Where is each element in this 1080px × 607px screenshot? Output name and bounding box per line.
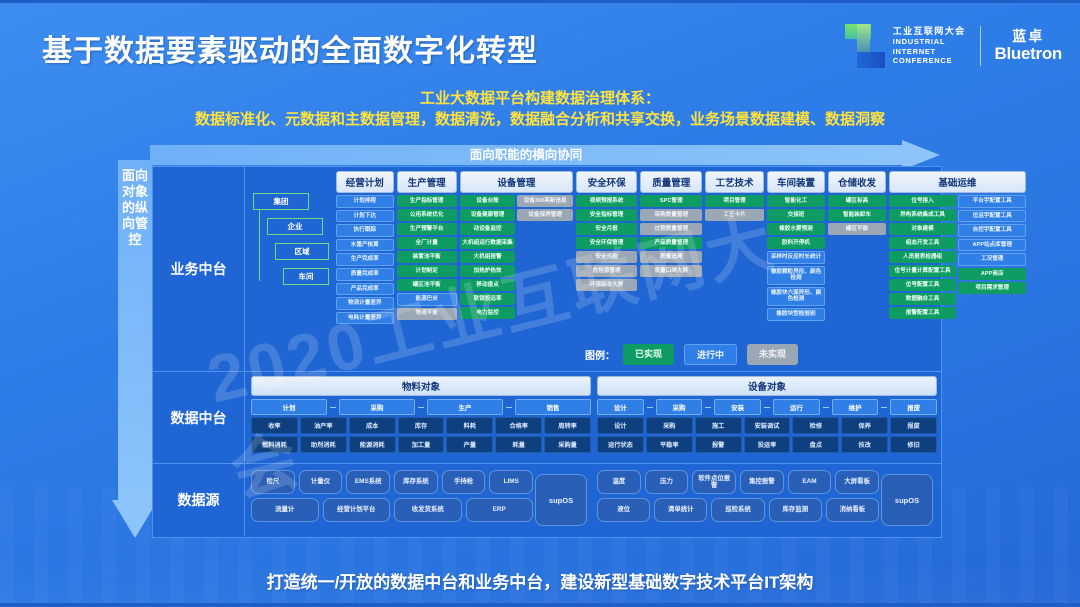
data-source-item[interactable]: 库存监测 bbox=[769, 498, 822, 522]
metric-cell[interactable]: 设计 bbox=[597, 417, 644, 434]
band-label-data: 数据中台 bbox=[153, 372, 245, 463]
capability-cell[interactable]: 工艺卡片 bbox=[705, 209, 763, 221]
flow-step[interactable]: 维护 bbox=[832, 399, 879, 415]
data-source-item[interactable]: 流量计 bbox=[251, 498, 319, 522]
bluetron-logo: 蓝卓 Bluetron bbox=[995, 29, 1062, 63]
legend-item-3: 未实现 bbox=[747, 344, 798, 365]
capability-cell[interactable]: 设备保养管理 bbox=[517, 209, 573, 221]
org-level-4[interactable]: 车间 bbox=[283, 268, 329, 285]
data-source-item[interactable]: 大屏看板 bbox=[835, 470, 879, 494]
column-header[interactable]: 工艺技术 bbox=[705, 171, 763, 193]
capability-cell[interactable]: APP站点库管理 bbox=[958, 239, 1026, 252]
iic-logo: 工业互联网大会 INDUSTRIAL INTERNET CONFERENCE bbox=[845, 24, 966, 68]
header: 基于数据要素驱动的全面数字化转型 工业互联网大会 INDUSTRIAL INTE… bbox=[0, 0, 1080, 88]
org-hierarchy: 集团企业区域车间 bbox=[253, 193, 329, 293]
band-body-data: 物料对象计划采购生产销售收率油产率成本库存料耗合格率周转率燃料消耗助剂消耗能源消… bbox=[245, 372, 941, 463]
column-subgroup-1: 设备360亮新信息设备保养管理 bbox=[517, 195, 573, 367]
business-column-8: 基础运维位号接入异构系统集成工具对象建模组态开发工具人员报表检器组位号计量计算配… bbox=[889, 171, 1026, 367]
metric-cell[interactable]: 安装调试 bbox=[744, 417, 791, 434]
column-subgroup-0: 项目管理工艺卡片 bbox=[705, 195, 763, 367]
column-header[interactable]: 车间装置 bbox=[767, 171, 825, 193]
metric-cell[interactable]: 周转率 bbox=[544, 417, 591, 434]
column-header[interactable]: 质量管理 bbox=[640, 171, 702, 193]
metric-cell[interactable]: 产量 bbox=[446, 436, 493, 453]
business-column-4: 质量管理SPC管理采购质量管理过程质量管理产品质量管理质量追溯质量口碑大屏 bbox=[640, 171, 702, 367]
metric-cell[interactable]: 保养 bbox=[841, 417, 888, 434]
capability-cell[interactable]: 位号接入 bbox=[889, 195, 957, 207]
legend-item-1: 已实现 bbox=[623, 344, 674, 365]
page-title: 基于数据要素驱动的全面数字化转型 bbox=[42, 26, 538, 70]
capability-cell[interactable]: 生产完成率 bbox=[336, 253, 394, 266]
capability-cell[interactable]: 计划制定 bbox=[397, 265, 457, 277]
data-source-item[interactable]: 软件点位报警 bbox=[692, 470, 736, 494]
iic-logo-en-1: INDUSTRIAL bbox=[893, 37, 966, 46]
subtitle-line-2: 数据标准化、元数据和主数据管理，数据清洗，数据融合分析和共享交换，业务场景数据建… bbox=[0, 109, 1080, 131]
capability-cell[interactable]: 对象建模 bbox=[889, 223, 957, 235]
capability-cell[interactable]: 平台宇配置工具 bbox=[958, 195, 1026, 208]
bluetron-logo-cn: 蓝卓 bbox=[995, 29, 1062, 44]
business-column-2: 设备管理设备台账设备健康管理动设备监控大机组运行数据采集大机组报警加热炉热效移动… bbox=[460, 171, 573, 367]
capability-cell[interactable]: 橡胶块六面异形、颜色检测 bbox=[767, 287, 825, 306]
business-column-1: 生产管理生产指标管理公用系统优化生产预警平台全厂计量装置池平衡计划制定罐区池平衡… bbox=[397, 171, 457, 367]
capability-cell[interactable]: 公用系统优化 bbox=[397, 209, 457, 221]
data-object-group-0: 物料对象计划采购生产销售收率油产率成本库存料耗合格率周转率燃料消耗助剂消耗能源消… bbox=[251, 376, 591, 453]
capability-cell[interactable]: 交接班 bbox=[767, 209, 825, 221]
subtitle-line-1: 工业大数据平台构建数据治理体系： bbox=[0, 88, 1080, 109]
flow-step[interactable]: 销售 bbox=[515, 399, 591, 415]
capability-cell[interactable]: 位号配置工具 bbox=[889, 279, 957, 291]
vertical-control-arrow: 面向对象的纵向管控 bbox=[118, 160, 152, 540]
data-source-item[interactable]: LIMS bbox=[489, 470, 533, 494]
band-body-business: 集团企业区域车间 经营计划计划排程计划下达执行跟踪水重产核算生产完成率质量完成率… bbox=[245, 167, 941, 371]
capability-cell[interactable]: 大机组运行数据采集 bbox=[460, 237, 516, 249]
capability-cell[interactable]: 项目需求管理 bbox=[958, 282, 1026, 294]
data-source-item[interactable]: 清单统计 bbox=[654, 498, 707, 522]
data-group-header[interactable]: 物料对象 bbox=[251, 376, 591, 396]
iic-mark-icon bbox=[845, 24, 885, 68]
capability-cell[interactable]: 质量完成率 bbox=[336, 268, 394, 281]
column-subgroup-1: 平台宇配置工具位运宇配置工具自控宇配置工具APP站点库管理工况管理APP商店项目… bbox=[958, 195, 1026, 367]
capability-cell[interactable]: 装置池平衡 bbox=[397, 251, 457, 263]
source-row-0: 检尺计量仪EMS系统库存系统手持枪LIMS bbox=[251, 470, 533, 494]
capability-cell[interactable]: 胶料开停机 bbox=[767, 237, 825, 249]
column-header[interactable]: 安全环保 bbox=[576, 171, 637, 193]
metric-row-0: 收率油产率成本库存料耗合格率周转率 bbox=[251, 417, 591, 434]
data-source-item[interactable]: EAM bbox=[788, 470, 832, 494]
supos-platform[interactable]: supOS bbox=[881, 474, 933, 526]
column-header[interactable]: 经营计划 bbox=[336, 171, 394, 193]
capability-cell[interactable]: 加热炉热效 bbox=[460, 265, 516, 277]
column-subgroup-0: 计划排程计划下达执行跟踪水重产核算生产完成率质量完成率产品完成率物流计量差异电耗… bbox=[336, 195, 394, 367]
logo-divider bbox=[980, 26, 981, 66]
capability-cell[interactable]: 橡胶水雾预测 bbox=[767, 223, 825, 235]
capability-cell[interactable]: 能源巴米 bbox=[397, 293, 457, 306]
flow-step[interactable]: 生产 bbox=[427, 399, 503, 415]
column-subgroup-0: SPC管理采购质量管理过程质量管理产品质量管理质量追溯质量口碑大屏 bbox=[640, 195, 702, 367]
metric-cell[interactable]: 报警 bbox=[695, 436, 742, 453]
metric-row-0: 设计采购施工安装调试检修保养报废 bbox=[597, 417, 937, 434]
column-subgroup-0: 罐区标高智能装卸车罐区平衡 bbox=[828, 195, 886, 367]
iic-logo-cn: 工业互联网大会 bbox=[893, 27, 966, 36]
footer-text: 打造统一/开放的数据中台和业务中台，建设新型基础数字技术平台IT架构 bbox=[0, 568, 1080, 593]
source-group-1: 温度压力软件点位报警集控报警EAM大屏看板液位清单统计巡检系统库存监测消纳看板s… bbox=[597, 470, 937, 530]
capability-cell[interactable]: 设备健康管理 bbox=[460, 209, 516, 221]
capability-cell[interactable]: 人员报表检器组 bbox=[889, 251, 957, 263]
legend-item-2: 进行中 bbox=[684, 344, 737, 365]
business-column-3: 安全环保视频预报系统安全指标管理安全月报安全环保管理安全巡检危险源管理环保综合大… bbox=[576, 171, 637, 367]
capability-cell[interactable]: 橡胶块型检验别 bbox=[767, 308, 825, 321]
supos-platform[interactable]: supOS bbox=[535, 474, 587, 526]
metric-cell[interactable]: 报废 bbox=[890, 417, 937, 434]
metric-cell[interactable]: 盘点 bbox=[792, 436, 839, 453]
capability-cell[interactable]: 计划下达 bbox=[336, 210, 394, 223]
capability-cell[interactable]: 罐区标高 bbox=[828, 195, 886, 207]
band-label-business: 业务中台 bbox=[153, 167, 245, 371]
capability-cell[interactable]: 物流计量差异 bbox=[336, 297, 394, 310]
column-subgroup-0: 设备台账设备健康管理动设备监控大机组运行数据采集大机组报警加热炉热效移动盘点联锁… bbox=[460, 195, 516, 367]
capability-cell[interactable]: 工况管理 bbox=[958, 253, 1026, 266]
vertical-arrow-label: 面向对象的纵向管控 bbox=[118, 168, 152, 248]
capability-cell[interactable]: 动设备监控 bbox=[460, 223, 516, 235]
column-subgroup-0: 生产指标管理公用系统优化生产预警平台全厂计量装置池平衡计划制定罐区池平衡能源巴米… bbox=[397, 195, 457, 367]
data-source-item[interactable]: 压力 bbox=[645, 470, 689, 494]
flow-step[interactable]: 计划 bbox=[251, 399, 327, 415]
capability-cell[interactable]: 项目管理 bbox=[705, 195, 763, 207]
data-source-item[interactable]: 液位 bbox=[597, 498, 650, 522]
capability-cell[interactable]: 智能装卸车 bbox=[828, 209, 886, 221]
source-row-1: 流量计经营计划平台收发货系统ERP bbox=[251, 498, 533, 522]
capability-cell[interactable]: 水重产核算 bbox=[336, 239, 394, 252]
metric-cell[interactable]: 采购 bbox=[646, 417, 693, 434]
business-column-7: 仓储收发罐区标高智能装卸车罐区平衡 bbox=[828, 171, 886, 367]
data-source-item[interactable]: ERP bbox=[466, 498, 534, 522]
capability-cell[interactable]: 质量追溯 bbox=[640, 251, 702, 263]
capability-cell[interactable]: 安全指标管理 bbox=[576, 209, 637, 221]
column-subgroup-0: 位号接入异构系统集成工具对象建模组态开发工具人员报表检器组位号计量计算配置工具位… bbox=[889, 195, 957, 367]
capability-cell[interactable]: 位运宇配置工具 bbox=[958, 210, 1026, 223]
capability-cell[interactable]: 生产预警平台 bbox=[397, 223, 457, 235]
capability-cell[interactable]: 计划排程 bbox=[336, 195, 394, 208]
capability-cell[interactable]: 采购质量管理 bbox=[640, 209, 702, 221]
data-source-item[interactable]: 集控报警 bbox=[740, 470, 784, 494]
source-row-1: 液位清单统计巡检系统库存监测消纳看板 bbox=[597, 498, 879, 522]
data-group-header[interactable]: 设备对象 bbox=[597, 376, 937, 396]
business-columns: 经营计划计划排程计划下达执行跟踪水重产核算生产完成率质量完成率产品完成率物流计量… bbox=[333, 167, 1029, 371]
flow-step[interactable]: 安装 bbox=[714, 399, 761, 415]
capability-cell[interactable]: 安全环保管理 bbox=[576, 237, 637, 249]
capability-cell[interactable]: 执行跟踪 bbox=[336, 224, 394, 237]
capability-cell[interactable]: 环保综合大屏 bbox=[576, 279, 637, 291]
capability-cell[interactable]: 全厂计量 bbox=[397, 237, 457, 249]
capability-cell[interactable]: 质量口碑大屏 bbox=[640, 265, 702, 277]
flow-step[interactable]: 设计 bbox=[597, 399, 644, 415]
capability-cell[interactable]: 异构系统集成工具 bbox=[889, 209, 957, 221]
org-level-1[interactable]: 集团 bbox=[253, 193, 309, 210]
capability-cell[interactable]: 电力监控 bbox=[460, 307, 516, 319]
data-source-item[interactable]: 检尺 bbox=[251, 470, 295, 494]
capability-cell[interactable]: SPC管理 bbox=[640, 195, 702, 207]
metric-cell[interactable]: 料耗 bbox=[446, 417, 493, 434]
iic-logo-text: 工业互联网大会 INDUSTRIAL INTERNET CONFERENCE bbox=[893, 27, 966, 65]
iic-logo-en-3: CONFERENCE bbox=[893, 56, 966, 65]
column-subgroup-0: 智能化工交接班橡胶水雾预测胶料开停机采样时反应时长统计橡胶颗粒异形、颜色检测橡胶… bbox=[767, 195, 825, 367]
data-source-item[interactable]: 库存系统 bbox=[394, 470, 438, 494]
metric-cell[interactable]: 投运率 bbox=[744, 436, 791, 453]
band-data-source: 数据源 检尺计量仪EMS系统库存系统手持枪LIMS流量计经营计划平台收发货系统E… bbox=[153, 464, 941, 536]
data-source-item[interactable]: 收发货系统 bbox=[394, 498, 462, 522]
business-column-0: 经营计划计划排程计划下达执行跟踪水重产核算生产完成率质量完成率产品完成率物流计量… bbox=[336, 171, 394, 367]
data-source-item[interactable]: 温度 bbox=[597, 470, 641, 494]
capability-cell[interactable]: 电耗计量差异 bbox=[336, 312, 394, 325]
metric-cell[interactable]: 施工 bbox=[695, 417, 742, 434]
column-header[interactable]: 仓储收发 bbox=[828, 171, 886, 193]
logo-group: 工业互联网大会 INDUSTRIAL INTERNET CONFERENCE 蓝… bbox=[845, 24, 1062, 68]
metric-cell[interactable]: 库存 bbox=[398, 417, 445, 434]
architecture-panel: 业务中台 集团企业区域车间 经营计划计划排程计划下达执行跟踪水重产核算生产完成率… bbox=[152, 166, 942, 538]
metric-cell[interactable]: 燃料消耗 bbox=[251, 436, 298, 453]
column-subgroup-0: 视频预报系统安全指标管理安全月报安全环保管理安全巡检危险源管理环保综合大屏 bbox=[576, 195, 637, 367]
bottom-divider bbox=[0, 603, 1080, 607]
capability-cell[interactable]: APP商店 bbox=[958, 268, 1026, 280]
metric-cell[interactable]: 油产率 bbox=[300, 417, 347, 434]
column-header[interactable]: 设备管理 bbox=[460, 171, 573, 193]
subtitle-block: 工业大数据平台构建数据治理体系： 数据标准化、元数据和主数据管理，数据清洗，数据… bbox=[0, 88, 1080, 131]
capability-cell[interactable]: 报警配置工具 bbox=[889, 307, 957, 319]
capability-cell[interactable]: 产品质量管理 bbox=[640, 237, 702, 249]
bluetron-logo-en: Bluetron bbox=[995, 44, 1062, 63]
capability-cell[interactable]: 设备台账 bbox=[460, 195, 516, 207]
column-header[interactable]: 生产管理 bbox=[397, 171, 457, 193]
data-object-group-1: 设备对象设计采购安装运行维护报废设计采购施工安装调试检修保养报废运行状态平稳率报… bbox=[597, 376, 937, 453]
metric-cell[interactable]: 加工量 bbox=[398, 436, 445, 453]
capability-cell[interactable]: 视频预报系统 bbox=[576, 195, 637, 207]
data-source-item[interactable]: 计量仪 bbox=[299, 470, 343, 494]
business-column-6: 车间装置智能化工交接班橡胶水雾预测胶料开停机采样时反应时长统计橡胶颗粒异形、颜色… bbox=[767, 171, 825, 367]
metric-cell[interactable]: 技改 bbox=[841, 436, 888, 453]
source-group-0: 检尺计量仪EMS系统库存系统手持枪LIMS流量计经营计划平台收发货系统ERPsu… bbox=[251, 470, 591, 530]
metric-cell[interactable]: 助剂消耗 bbox=[300, 436, 347, 453]
flow-step[interactable]: 采购 bbox=[339, 399, 415, 415]
metric-cell[interactable]: 耗量 bbox=[495, 436, 542, 453]
data-source-item[interactable]: 手持枪 bbox=[442, 470, 486, 494]
capability-cell[interactable]: 联锁投运率 bbox=[460, 293, 516, 305]
org-level-2[interactable]: 企业 bbox=[267, 218, 323, 235]
capability-cell[interactable]: 橡胶颗粒异形、颜色检测 bbox=[767, 266, 825, 285]
capability-cell[interactable]: 大机组报警 bbox=[460, 251, 516, 263]
metric-cell[interactable]: 采购量 bbox=[544, 436, 591, 453]
horizontal-collaboration-arrow: 面向职能的横向协同 bbox=[150, 145, 940, 165]
metric-cell[interactable]: 合格率 bbox=[495, 417, 542, 434]
metric-cell[interactable]: 能源消耗 bbox=[349, 436, 396, 453]
horizontal-arrow-label: 面向职能的横向协同 bbox=[150, 145, 902, 165]
capability-cell[interactable]: 危险源管理 bbox=[576, 265, 637, 277]
flow-step[interactable]: 运行 bbox=[773, 399, 820, 415]
data-source-item[interactable]: 经营计划平台 bbox=[323, 498, 391, 522]
band-label-source: 数据源 bbox=[153, 464, 245, 536]
capability-cell[interactable]: 物流平衡 bbox=[397, 308, 457, 320]
capability-cell[interactable]: 自控宇配置工具 bbox=[958, 224, 1026, 237]
metric-cell[interactable]: 成本 bbox=[349, 417, 396, 434]
metric-cell[interactable]: 平稳率 bbox=[646, 436, 693, 453]
data-source-item[interactable]: 消纳看板 bbox=[826, 498, 879, 522]
capability-cell[interactable]: 安全巡检 bbox=[576, 251, 637, 263]
capability-cell[interactable]: 安全月报 bbox=[576, 223, 637, 235]
metric-cell[interactable]: 检修 bbox=[792, 417, 839, 434]
capability-cell[interactable]: 过程质量管理 bbox=[640, 223, 702, 235]
lifecycle-flow: 设计采购安装运行维护报废 bbox=[597, 399, 937, 415]
capability-cell[interactable]: 罐区平衡 bbox=[828, 223, 886, 235]
capability-cell[interactable]: 数据融合工具 bbox=[889, 293, 957, 305]
column-header[interactable]: 基础运维 bbox=[889, 171, 1026, 193]
capability-cell[interactable]: 设备360亮新信息 bbox=[517, 195, 573, 207]
iic-logo-en-2: INTERNET bbox=[893, 47, 966, 56]
capability-cell[interactable]: 位号计量计算配置工具 bbox=[889, 265, 957, 277]
capability-cell[interactable]: 采样时反应时长统计 bbox=[767, 251, 825, 264]
capability-cell[interactable]: 产品完成率 bbox=[336, 283, 394, 296]
flow-step[interactable]: 采购 bbox=[656, 399, 703, 415]
metric-cell[interactable]: 运行状态 bbox=[597, 436, 644, 453]
legend-label: 图例： bbox=[585, 347, 615, 362]
business-column-5: 工艺技术项目管理工艺卡片 bbox=[705, 171, 763, 367]
metric-row-1: 运行状态平稳率报警投运率盘点技改修旧 bbox=[597, 436, 937, 453]
capability-cell[interactable]: 智能化工 bbox=[767, 195, 825, 207]
data-source-item[interactable]: EMS系统 bbox=[346, 470, 390, 494]
band-body-source: 检尺计量仪EMS系统库存系统手持枪LIMS流量计经营计划平台收发货系统ERPsu… bbox=[245, 464, 941, 536]
lifecycle-flow: 计划采购生产销售 bbox=[251, 399, 591, 415]
metric-cell[interactable]: 修旧 bbox=[890, 436, 937, 453]
legend: 图例： 已实现进行中未实现 bbox=[585, 344, 798, 365]
band-business-middle-platform: 业务中台 集团企业区域车间 经营计划计划排程计划下达执行跟踪水重产核算生产完成率… bbox=[153, 167, 941, 372]
band-data-middle-platform: 数据中台 物料对象计划采购生产销售收率油产率成本库存料耗合格率周转率燃料消耗助剂… bbox=[153, 372, 941, 464]
data-source-item[interactable]: 巡检系统 bbox=[711, 498, 764, 522]
org-level-3[interactable]: 区域 bbox=[275, 243, 329, 260]
flow-step[interactable]: 报废 bbox=[890, 399, 937, 415]
metric-row-1: 燃料消耗助剂消耗能源消耗加工量产量耗量采购量 bbox=[251, 436, 591, 453]
metric-cell[interactable]: 收率 bbox=[251, 417, 298, 434]
capability-cell[interactable]: 罐区池平衡 bbox=[397, 279, 457, 291]
source-row-0: 温度压力软件点位报警集控报警EAM大屏看板 bbox=[597, 470, 879, 494]
capability-cell[interactable]: 组态开发工具 bbox=[889, 237, 957, 249]
capability-cell[interactable]: 生产指标管理 bbox=[397, 195, 457, 207]
capability-cell[interactable]: 移动盘点 bbox=[460, 279, 516, 291]
